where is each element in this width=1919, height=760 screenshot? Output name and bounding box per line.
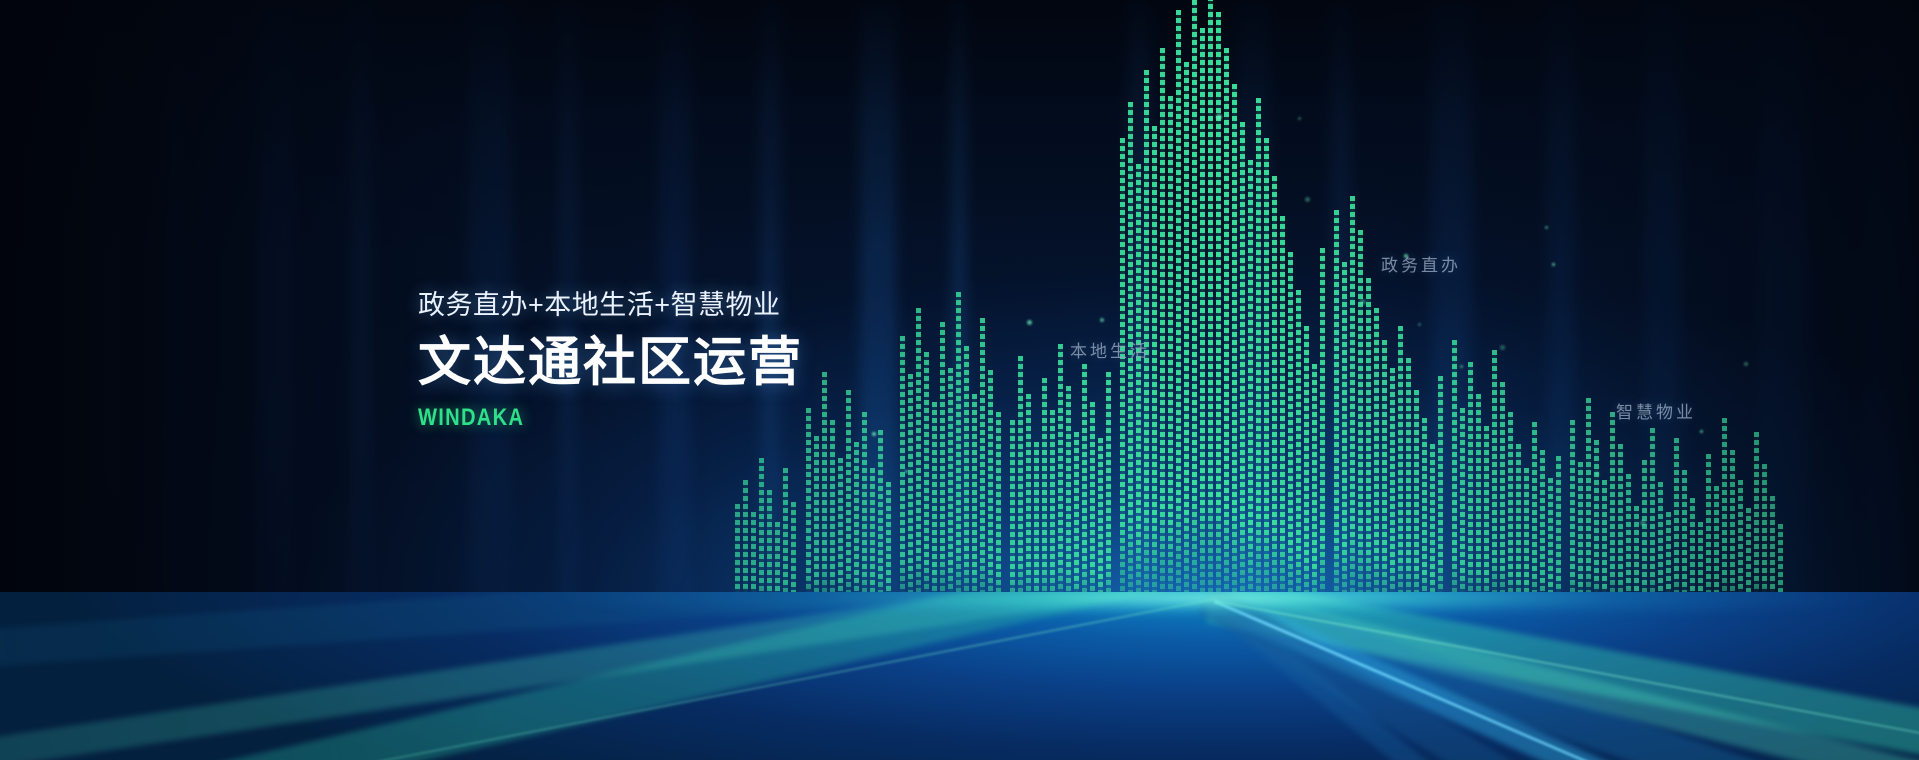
skyline-column [1642, 460, 1647, 608]
scene-label-3: 智慧物业 [1616, 398, 1696, 423]
skyline-column [1160, 48, 1165, 608]
skyline-column [1508, 412, 1513, 608]
skyline-column [1304, 326, 1309, 608]
skyline-column [1184, 62, 1189, 608]
skyline-column [1738, 480, 1743, 608]
sparkle-dot [1552, 263, 1555, 266]
hero-subtitle: 政务直办+本地生活+智慧物业 [418, 292, 803, 319]
dot-skyline-chart [0, 0, 1919, 620]
skyline-column [1208, 0, 1213, 608]
skyline-column [1010, 420, 1015, 608]
skyline-column [964, 346, 969, 608]
sparkle-dot [1418, 323, 1421, 326]
skyline-column [980, 318, 985, 608]
skyline-column [830, 420, 835, 608]
skyline-column [1342, 262, 1347, 608]
skyline-column [1018, 356, 1023, 608]
skyline-column [1106, 372, 1111, 608]
skyline-column [1168, 96, 1173, 608]
skyline-column [1288, 252, 1293, 608]
skyline-column [878, 430, 883, 608]
skyline-column [862, 412, 867, 608]
skyline-column [767, 490, 772, 608]
skyline-column [1216, 12, 1221, 608]
sparkle-dot [1305, 197, 1310, 202]
skyline-column [1492, 350, 1497, 608]
skyline-column [1090, 402, 1095, 608]
skyline-column [1272, 176, 1277, 608]
skyline-column [1650, 428, 1655, 608]
skyline-column [846, 390, 851, 608]
skyline-column [1264, 138, 1269, 608]
skyline-column [1500, 382, 1505, 608]
sparkle-dot [1100, 318, 1104, 322]
skyline-column [908, 374, 913, 608]
hero-title: 文达通社区运营 [418, 336, 803, 389]
skyline-column [1224, 48, 1229, 608]
skyline-column [806, 408, 811, 608]
skyline-column [1152, 126, 1157, 608]
skyline-column [1026, 394, 1031, 608]
skyline-column [1192, 0, 1197, 608]
skyline-column [1240, 122, 1245, 608]
skyline-column [1350, 196, 1355, 608]
skyline-column [916, 308, 921, 608]
skyline-column [996, 412, 1001, 608]
skyline-column [1058, 344, 1063, 608]
sparkle-dot [1027, 320, 1032, 325]
skyline-column [940, 322, 945, 608]
skyline-column [1570, 420, 1575, 608]
skyline-column [783, 468, 788, 608]
skyline-column [1366, 278, 1371, 608]
sparkle-dot [1744, 362, 1748, 366]
skyline-column [1438, 376, 1443, 608]
skyline-column [1382, 340, 1387, 608]
skyline-column [1358, 230, 1363, 608]
skyline-column [1548, 478, 1553, 608]
skyline-column [932, 402, 937, 608]
skyline-column [1414, 390, 1419, 608]
skyline-column [1280, 216, 1285, 608]
skyline-column [1706, 454, 1711, 608]
skyline-column [1074, 432, 1079, 608]
skyline-column [822, 372, 827, 608]
skyline-column [1532, 422, 1537, 608]
hero-banner: 政务直办本地生活智慧物业 政务直办+本地生活+智慧物业 文达通社区运营 WIND… [0, 0, 1919, 760]
skyline-column [1430, 444, 1435, 608]
hero-copy: 政务直办+本地生活+智慧物业 文达通社区运营 WINDAKA [418, 292, 803, 430]
skyline-column [1754, 432, 1759, 608]
skyline-column [1042, 378, 1047, 608]
skyline-column [1452, 340, 1457, 608]
sparkle-dot [1360, 299, 1366, 305]
skyline-column [1066, 386, 1071, 608]
skyline-column [1626, 474, 1631, 608]
skyline-column [1296, 290, 1301, 608]
skyline-column [1120, 138, 1125, 608]
skyline-column [1722, 418, 1727, 608]
skyline-column [1484, 426, 1489, 608]
skyline-column [1586, 398, 1591, 608]
skyline-column [814, 436, 819, 608]
skyline-column [743, 480, 748, 608]
skyline-column [1320, 248, 1325, 608]
skyline-column [1176, 10, 1181, 608]
skyline-column [838, 458, 843, 608]
sparkle-dot [1700, 430, 1703, 433]
skyline-column [1658, 482, 1663, 608]
skyline-column [1256, 98, 1261, 608]
skyline-column [854, 442, 859, 608]
skyline-column [1422, 418, 1427, 608]
skyline-column [1594, 440, 1599, 608]
skyline-column [1516, 444, 1521, 608]
skyline-column [1136, 164, 1141, 608]
skyline-column [1248, 160, 1253, 608]
skyline-column [1556, 456, 1561, 608]
skyline-column [1334, 210, 1339, 608]
skyline-column [886, 482, 891, 608]
skyline-column [1762, 464, 1767, 608]
skyline-column [759, 458, 764, 608]
brand-wordmark: WINDAKA [418, 406, 741, 430]
sparkle-dot [1298, 117, 1301, 120]
skyline-column [1200, 28, 1205, 608]
skyline-column [1468, 362, 1473, 608]
skyline-column [1674, 438, 1679, 608]
skyline-column [972, 394, 977, 608]
skyline-column [1476, 394, 1481, 608]
perspective-ground [0, 592, 1919, 760]
skyline-column [1730, 450, 1735, 608]
skyline-column [1082, 364, 1087, 608]
skyline-column [1390, 368, 1395, 608]
ground-gradient [0, 592, 1919, 760]
skyline-column [1602, 480, 1607, 608]
sparkle-dot [1500, 345, 1505, 350]
skyline-column [1050, 410, 1055, 608]
sparkle-dot [1460, 365, 1463, 368]
skyline-column [1714, 486, 1719, 608]
skyline-column [1682, 470, 1687, 608]
skyline-column [1460, 408, 1465, 608]
skyline-column [924, 352, 929, 608]
skyline-column [1232, 84, 1237, 608]
skyline-column [1098, 438, 1103, 608]
skyline-column [1578, 462, 1583, 608]
skyline-column [956, 292, 961, 608]
skyline-column [1034, 442, 1039, 608]
skyline-column [1406, 358, 1411, 608]
skyline-column [870, 468, 875, 608]
skyline-column [1610, 412, 1615, 608]
skyline-column [1398, 326, 1403, 608]
sparkle-dot [872, 432, 876, 436]
skyline-column [948, 368, 953, 608]
sparkle-dot [1216, 114, 1222, 120]
skyline-column [1312, 364, 1317, 608]
sparkle-dot [1545, 226, 1548, 229]
skyline-column [1374, 308, 1379, 608]
skyline-column [1540, 450, 1545, 608]
skyline-column [1524, 468, 1529, 608]
scene-label-2: 本地生活 [1070, 337, 1150, 362]
skyline-column [1618, 444, 1623, 608]
skyline-column [988, 370, 993, 608]
horizon-glow [0, 592, 1919, 612]
scene-label-1: 政务直办 [1381, 251, 1461, 276]
sparkle-dot [1640, 520, 1646, 526]
